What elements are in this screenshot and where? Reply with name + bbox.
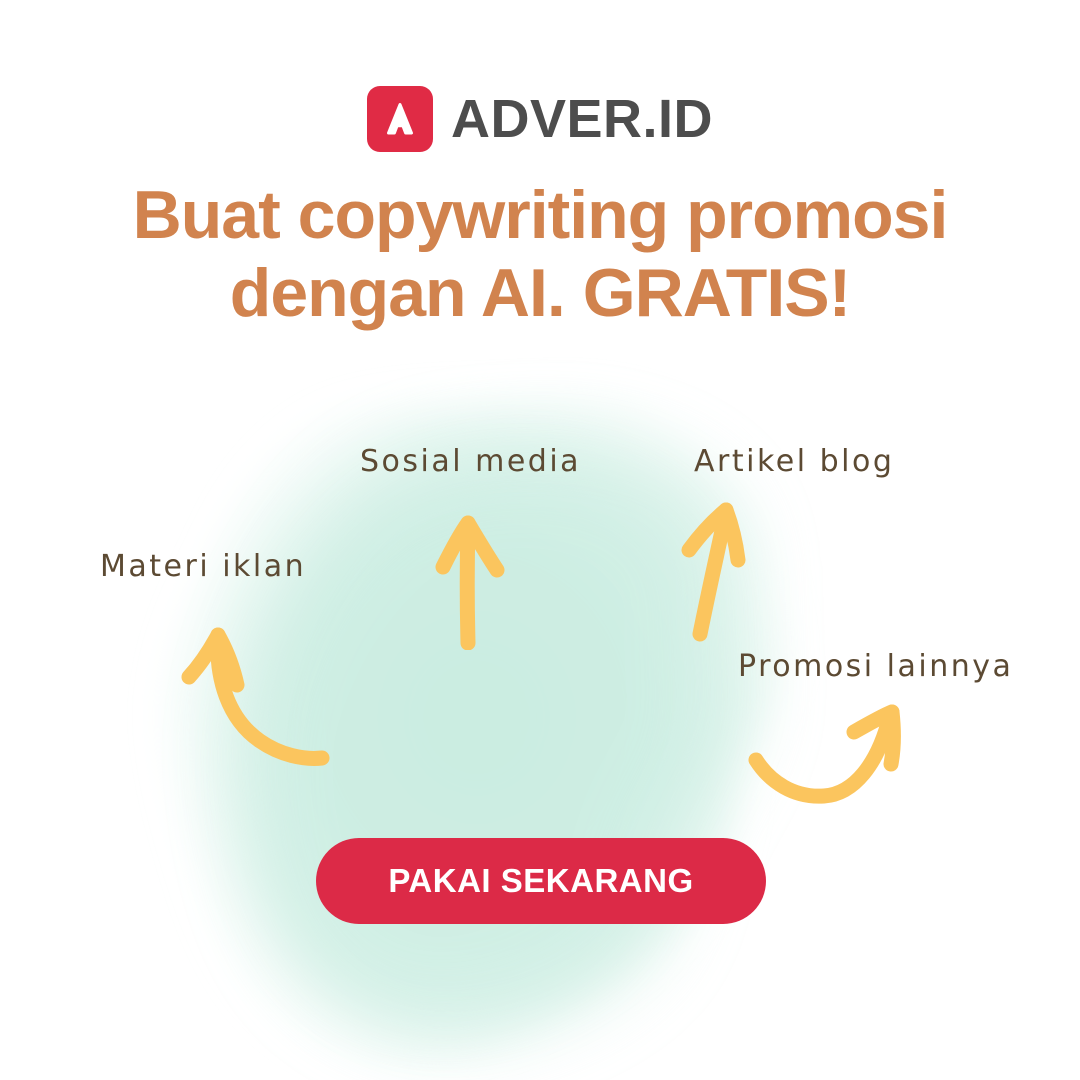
brand-logo: ADVER.ID — [0, 86, 1080, 152]
label-sosial-media: Sosial media — [360, 447, 581, 477]
headline-line-1: Buat copywriting promosi — [133, 177, 948, 253]
sosial-media-arrow-icon — [432, 505, 522, 650]
label-promosi-lainnya: Promosi lainnya — [738, 652, 1013, 682]
artikel-blog-arrow-icon — [678, 492, 778, 642]
brand-wordmark: ADVER.ID — [451, 92, 713, 146]
headline-line-2: dengan AI. GRATIS! — [0, 254, 1080, 332]
promo-banner: ADVER.ID Buat copywriting promosi dengan… — [0, 0, 1080, 1080]
materi-iklan-arrow-icon — [170, 615, 340, 780]
headline: Buat copywriting promosi dengan AI. GRAT… — [0, 176, 1080, 332]
label-artikel-blog: Artikel blog — [694, 447, 894, 477]
label-materi-iklan: Materi iklan — [100, 552, 306, 582]
pakai-sekarang-button[interactable]: PAKAI SEKARANG — [316, 838, 766, 924]
promosi-lainnya-arrow-icon — [742, 688, 917, 813]
adver-a-mark-icon — [367, 86, 433, 152]
